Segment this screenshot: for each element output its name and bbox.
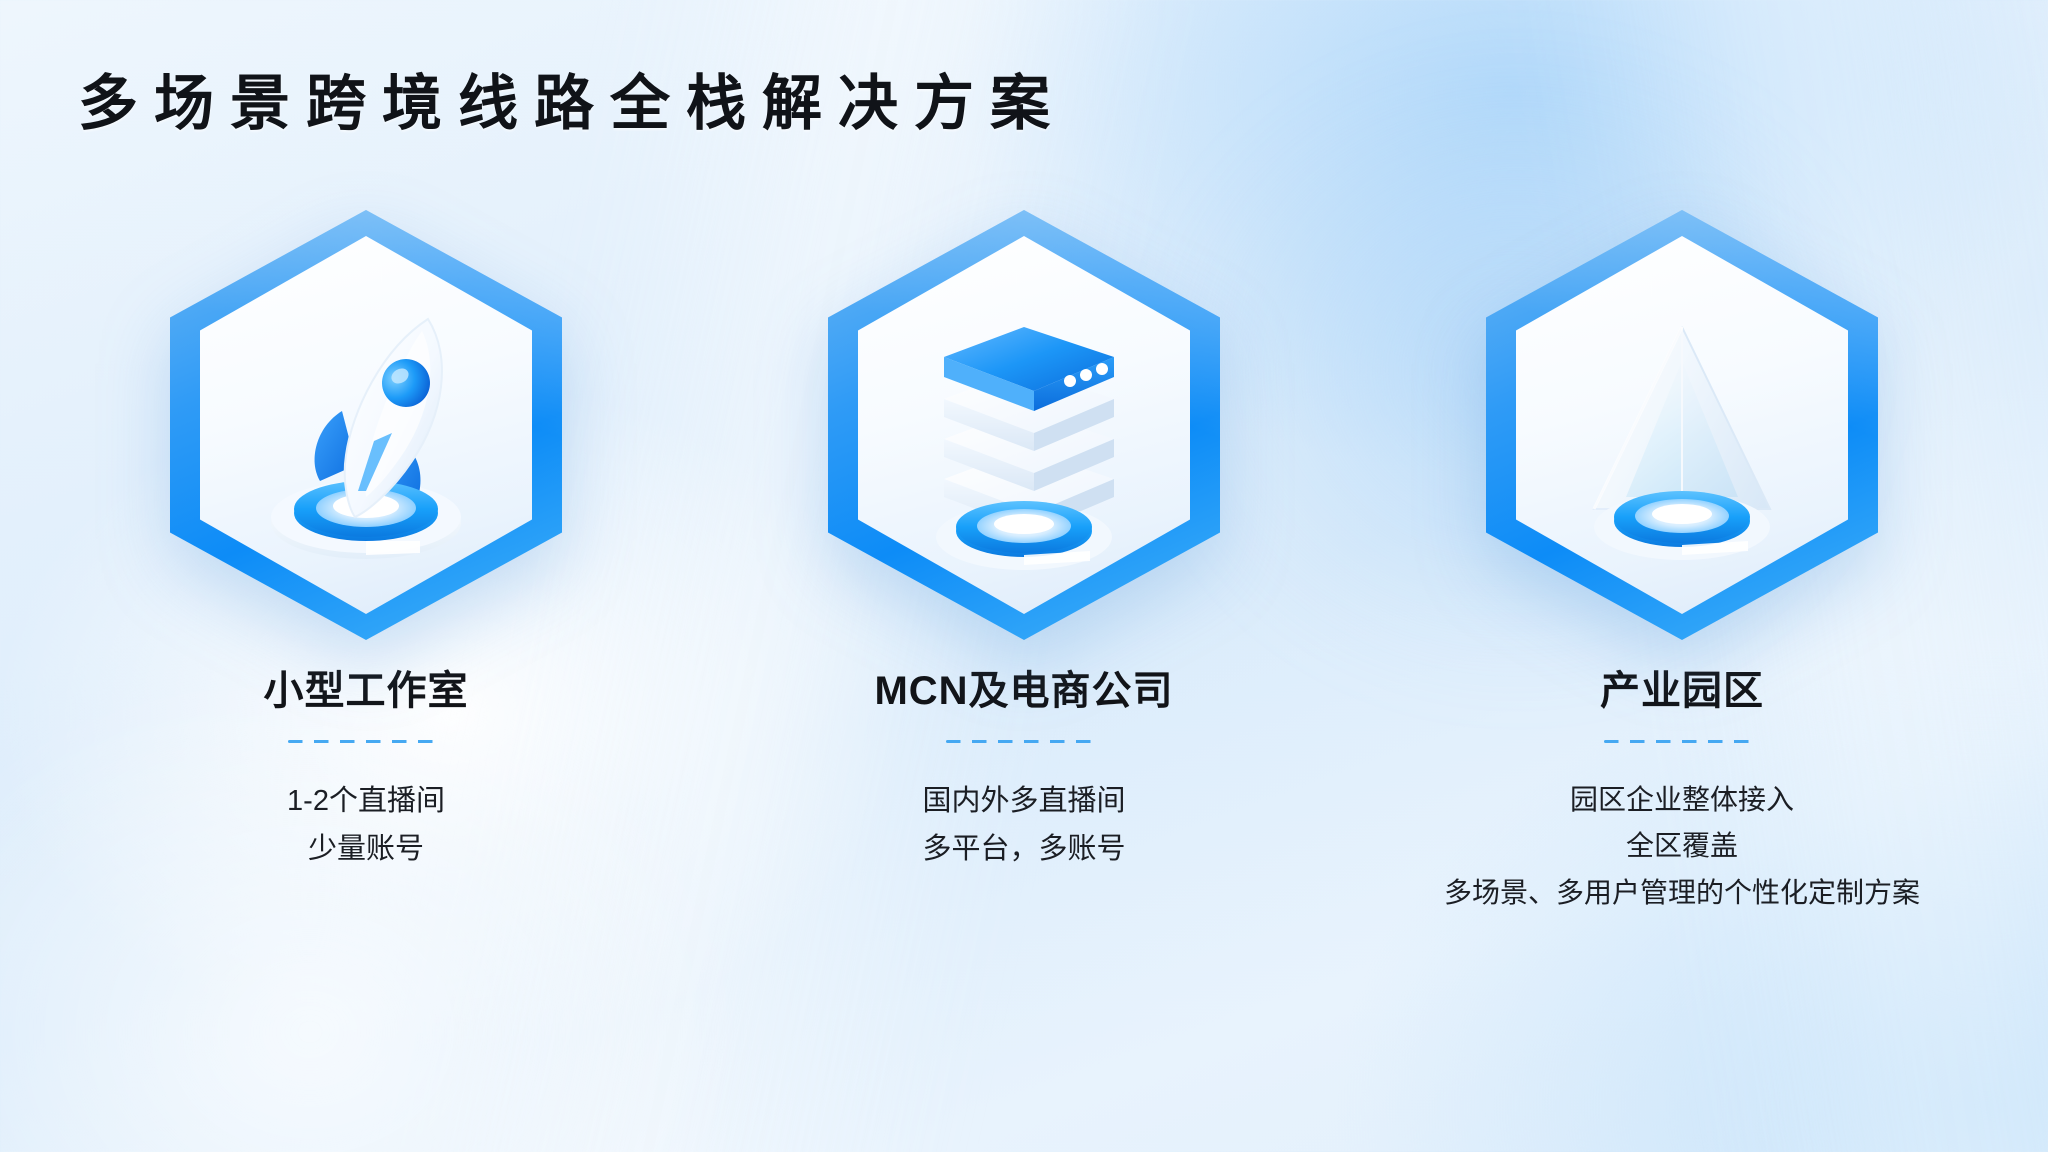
card-description: 园区企业整体接入 全区覆盖 多场景、多用户管理的个性化定制方案	[1444, 777, 1920, 916]
hexagon-badge	[1486, 210, 1878, 640]
card-title: MCN及电商公司	[874, 658, 1173, 716]
card-description-line: 1-2个直播间	[287, 777, 445, 825]
card-divider	[288, 740, 444, 743]
page-title: 多场景跨境线路全栈解决方案	[78, 55, 1066, 142]
card-description-line: 多场景、多用户管理的个性化定制方案	[1444, 870, 1920, 916]
card-divider	[1604, 740, 1760, 743]
scenario-card-small-studio[interactable]: 小型工作室 1-2个直播间 少量账号	[106, 210, 626, 873]
hexagon-badge	[170, 210, 562, 640]
card-divider	[946, 740, 1102, 743]
card-description: 1-2个直播间 少量账号	[287, 777, 445, 873]
card-description-line: 国内外多直播间	[922, 777, 1125, 825]
scenario-card-row: 小型工作室 1-2个直播间 少量账号	[0, 210, 2048, 916]
glass-pyramid-3d-icon	[1486, 210, 1878, 640]
card-description-line: 多平台，多账号	[922, 825, 1125, 873]
server-stack-3d-icon	[828, 210, 1220, 640]
rocket-3d-icon	[170, 210, 562, 640]
scenario-card-mcn-ecommerce[interactable]: MCN及电商公司 国内外多直播间 多平台，多账号	[764, 210, 1284, 873]
scenario-card-industrial-park[interactable]: 产业园区 园区企业整体接入 全区覆盖 多场景、多用户管理的个性化定制方案	[1422, 210, 1942, 916]
page-root: { "page": { "title": "多场景跨境线路全栈解决方案", "b…	[0, 0, 2048, 1152]
card-title: 小型工作室	[264, 658, 469, 716]
hexagon-badge	[828, 210, 1220, 640]
card-description-line: 少量账号	[287, 825, 445, 873]
card-description-line: 园区企业整体接入	[1444, 777, 1920, 823]
card-title: 产业园区	[1600, 658, 1764, 716]
card-description: 国内外多直播间 多平台，多账号	[922, 777, 1125, 873]
card-description-line: 全区覆盖	[1444, 823, 1920, 869]
